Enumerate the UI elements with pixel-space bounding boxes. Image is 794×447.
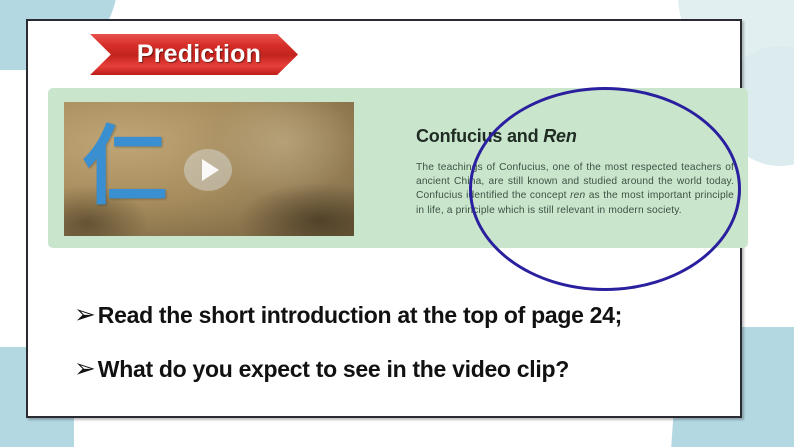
article-paragraph: The teachings of Confucius, one of the m… bbox=[416, 161, 734, 218]
prediction-banner-label: Prediction bbox=[127, 40, 261, 69]
slide-card: Prediction 仁 Confucius and Ren The teach… bbox=[26, 19, 742, 418]
play-icon bbox=[202, 159, 219, 181]
article-heading-italic: Ren bbox=[543, 126, 576, 146]
list-item-label: Read the short introduction at the top o… bbox=[98, 302, 622, 329]
arrow-bullet-icon: ➢ bbox=[74, 356, 96, 382]
article-text-block: Confucius and Ren The teachings of Confu… bbox=[416, 126, 734, 218]
list-item-label: What do you expect to see in the video c… bbox=[98, 356, 569, 383]
arrow-bullet-icon: ➢ bbox=[74, 302, 96, 328]
content-panel: 仁 Confucius and Ren The teachings of Con… bbox=[48, 88, 748, 248]
video-thumbnail[interactable]: 仁 bbox=[64, 102, 354, 236]
list-item: ➢ Read the short introduction at the top… bbox=[74, 302, 622, 329]
article-heading-plain: Confucius and bbox=[416, 126, 543, 146]
list-item: ➢ What do you expect to see in the video… bbox=[74, 356, 622, 383]
article-paragraph-italic-ren: ren bbox=[570, 190, 585, 201]
prediction-banner: Prediction bbox=[90, 34, 298, 75]
play-button[interactable] bbox=[184, 149, 232, 191]
bullet-list: ➢ Read the short introduction at the top… bbox=[74, 302, 622, 410]
ren-character: 仁 bbox=[82, 124, 168, 210]
article-heading: Confucius and Ren bbox=[416, 126, 734, 147]
